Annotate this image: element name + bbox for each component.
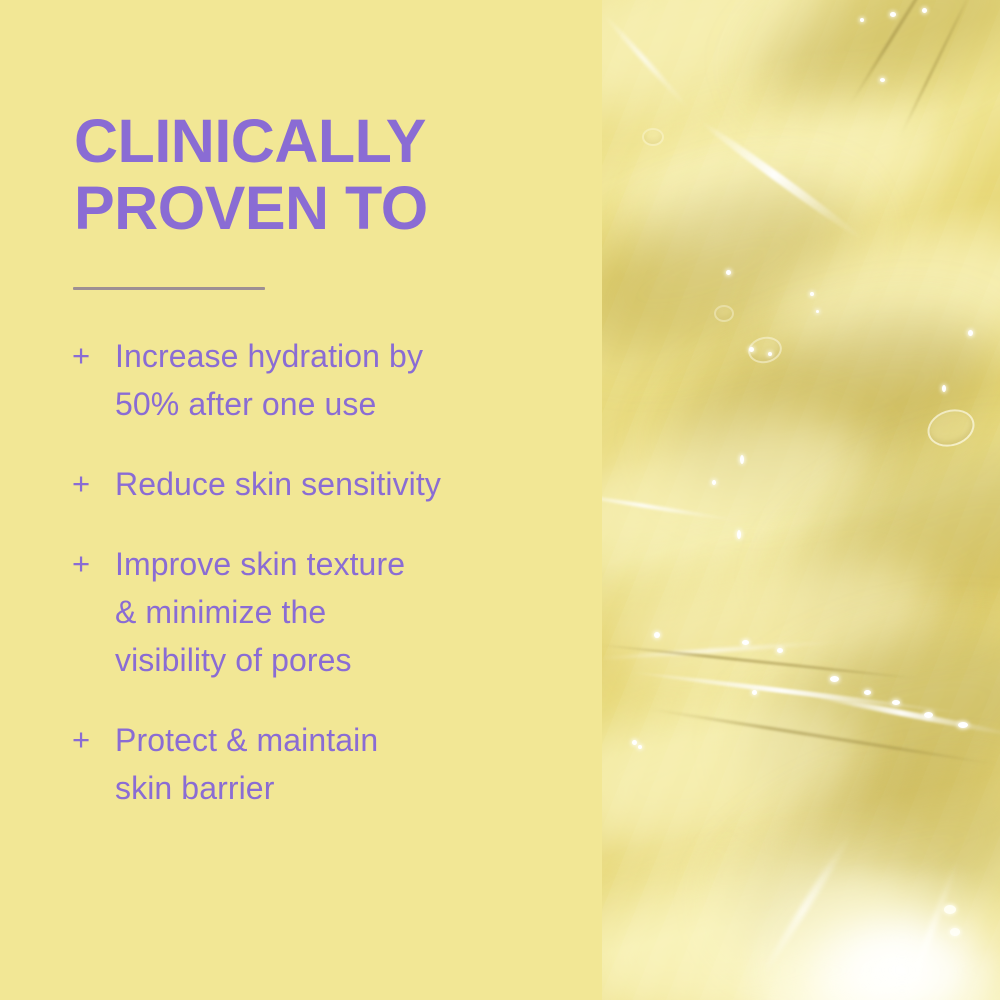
gel-droplet: [638, 745, 642, 749]
gel-droplet: [968, 330, 973, 336]
plus-icon: +: [72, 540, 102, 588]
gel-droplet: [768, 352, 772, 356]
gel-droplet: [742, 640, 749, 645]
benefit-line: skin barrier: [115, 764, 572, 812]
gel-texture-image: [602, 0, 1000, 1000]
gel-wave-shadow: [764, 415, 1000, 674]
benefit-text-3: Improve skin texture & minimize the visi…: [115, 540, 572, 684]
gel-flow-thread: [644, 707, 1000, 766]
gel-droplet: [752, 690, 757, 695]
gel-droplet: [810, 292, 814, 296]
text-panel: CLINICALLY PROVEN TO + Increase hydratio…: [0, 0, 602, 1000]
gel-wave-highlight: [605, 538, 950, 713]
gel-droplet: [712, 480, 716, 485]
benefit-line: 50% after one use: [115, 380, 572, 428]
gel-wave-highlight: [602, 832, 933, 1000]
gel-droplet: [860, 18, 864, 22]
gel-droplet: [880, 78, 885, 82]
gel-specular-streak: [602, 491, 741, 523]
gel-droplet: [944, 905, 956, 914]
gel-wave-shadow: [706, 740, 1000, 990]
product-benefits-poster: CLINICALLY PROVEN TO + Increase hydratio…: [0, 0, 1000, 1000]
gel-droplet: [737, 530, 741, 539]
gel-flow-thread: [899, 0, 975, 138]
gel-droplet: [830, 676, 839, 682]
gel-droplet: [749, 347, 754, 352]
benefit-line: visibility of pores: [115, 636, 572, 684]
gel-wave-shadow: [726, 599, 1000, 841]
gel-droplet: [740, 455, 744, 464]
gel-specular-streak: [602, 13, 692, 113]
gel-wave-highlight: [762, 206, 1000, 394]
headline-line-1: CLINICALLY: [74, 108, 574, 175]
gel-droplet: [922, 8, 927, 13]
headline-line-2: PROVEN TO: [74, 175, 574, 242]
plus-icon: +: [72, 716, 102, 764]
page-title: CLINICALLY PROVEN TO: [74, 108, 574, 242]
benefit-list: + Increase hydration by 50% after one us…: [72, 332, 572, 812]
gel-droplet: [816, 310, 819, 313]
gel-droplet: [892, 700, 900, 705]
gel-bubble: [923, 403, 980, 452]
gel-droplet: [890, 12, 896, 17]
gel-specular-streak: [633, 670, 961, 715]
gel-droplet: [632, 740, 637, 745]
gel-wave-shadow: [740, 0, 1000, 138]
benefit-line: Protect & maintain: [115, 716, 572, 764]
plus-icon: +: [72, 460, 102, 508]
benefit-text-2: Reduce skin sensitivity: [115, 460, 572, 508]
gel-wave-highlight: [602, 0, 857, 148]
gel-droplet: [726, 270, 731, 275]
gel-specular-streak: [602, 639, 852, 661]
gel-droplet: [950, 928, 960, 936]
gel-specular-streak: [759, 830, 856, 978]
gel-droplet: [654, 632, 660, 638]
gel-specular-streak: [903, 857, 961, 1000]
benefit-line: & minimize the: [115, 588, 572, 636]
benefit-line: Increase hydration by: [115, 332, 572, 380]
divider: [73, 287, 265, 290]
gel-flow-thread: [602, 643, 921, 680]
gel-flow-thread: [848, 0, 957, 107]
gel-wave-highlight: [602, 383, 884, 596]
benefit-text-1: Increase hydration by 50% after one use: [115, 332, 572, 428]
gel-bright-highlight: [752, 870, 1000, 1000]
gel-wave-highlight: [612, 77, 962, 273]
gel-droplet: [777, 648, 783, 653]
plus-icon: +: [72, 332, 102, 380]
gel-bubble: [642, 128, 664, 146]
gel-wave-shadow: [602, 153, 877, 387]
benefit-item-1: + Increase hydration by 50% after one us…: [72, 332, 572, 428]
gel-droplet: [864, 690, 871, 695]
benefit-item-2: + Reduce skin sensitivity: [72, 460, 572, 508]
gel-bubble: [746, 334, 785, 367]
benefit-text-4: Protect & maintain skin barrier: [115, 716, 572, 812]
gel-droplet: [924, 712, 933, 718]
benefit-item-4: + Protect & maintain skin barrier: [72, 716, 572, 812]
gel-droplet: [942, 385, 946, 392]
gel-droplet: [958, 722, 968, 728]
gel-wave-highlight: [602, 670, 874, 879]
gel-wave-shadow: [647, 281, 1000, 529]
gel-bubble: [714, 305, 734, 322]
benefit-line: Improve skin texture: [115, 540, 572, 588]
gel-ripple-overlay: [602, 0, 1000, 1000]
gel-specular-streak: [698, 118, 865, 243]
benefit-item-3: + Improve skin texture & minimize the vi…: [72, 540, 572, 684]
benefit-line: Reduce skin sensitivity: [115, 460, 572, 508]
gel-specular-streak: [803, 691, 1000, 739]
